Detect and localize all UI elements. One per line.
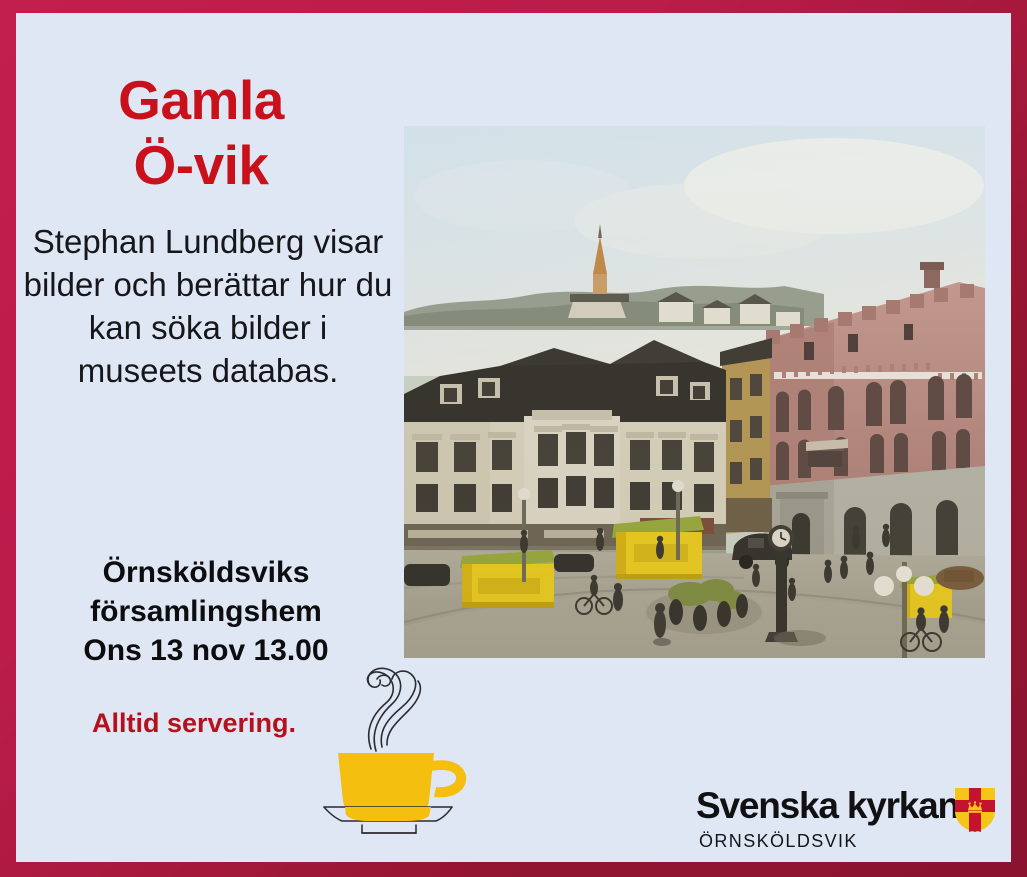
poster-description: Stephan Lundberg visar bilder och berätt… <box>22 221 394 393</box>
logo-parish-name: ÖRNSKÖLDSVIK <box>699 831 858 852</box>
coffee-cup-icon <box>316 641 486 841</box>
historic-photograph <box>404 126 985 658</box>
serving-note: Alltid servering. <box>22 708 366 739</box>
shield-icon <box>954 787 996 833</box>
title-line-2: Ö-vik <box>16 133 386 198</box>
poster-title: Gamla Ö-vik <box>16 68 386 198</box>
poster-content: Gamla Ö-vik Stephan Lundberg visar bilde… <box>16 13 1011 862</box>
title-line-1: Gamla <box>118 69 284 131</box>
svenska-kyrkan-logo: Svenska kyrkan ÖRNSKÖLDSVIK <box>696 785 996 857</box>
logo-wordmark: Svenska kyrkan <box>696 785 959 827</box>
venue-name-line-2: församlingshem <box>22 592 390 631</box>
venue-name-line-1: Örnsköldsviks <box>22 553 390 592</box>
poster: Gamla Ö-vik Stephan Lundberg visar bilde… <box>0 0 1027 877</box>
